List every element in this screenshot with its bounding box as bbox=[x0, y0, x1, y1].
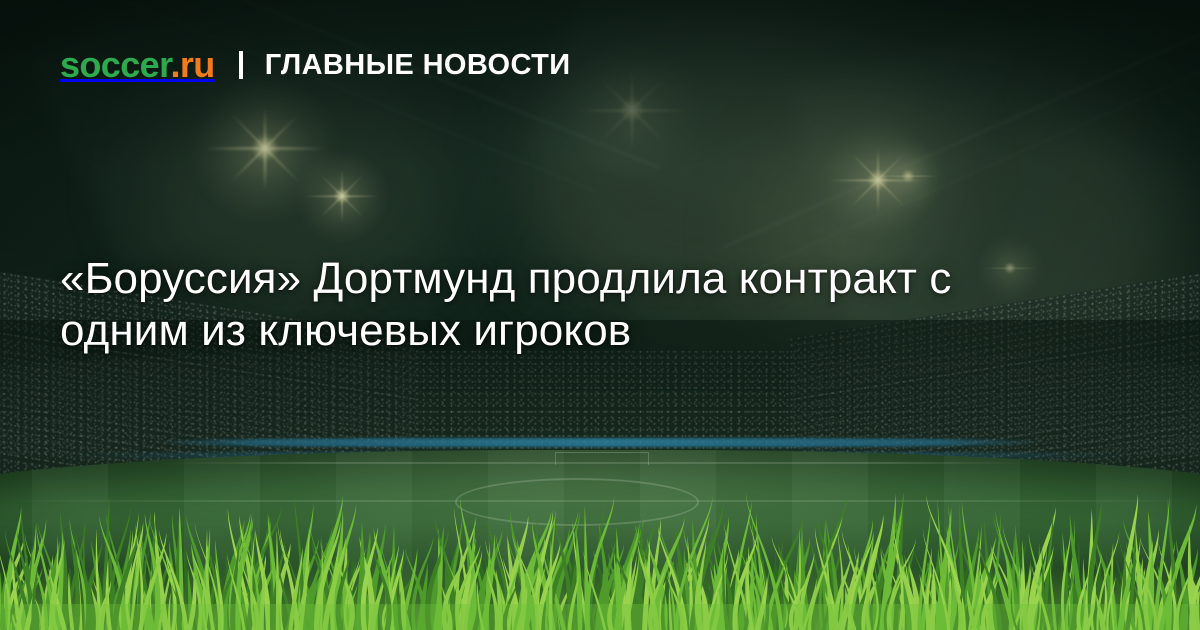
header-kicker: ГЛАВНЫЕ НОВОСТИ bbox=[265, 51, 571, 80]
card-content: soccer.ru ГЛАВНЫЕ НОВОСТИ «Боруссия» Дор… bbox=[0, 0, 1200, 630]
social-share-card: soccer.ru ГЛАВНЫЕ НОВОСТИ «Боруссия» Дор… bbox=[0, 0, 1200, 630]
site-header: soccer.ru ГЛАВНЫЕ НОВОСТИ bbox=[60, 47, 570, 83]
logo-tld-part: .ru bbox=[171, 44, 215, 85]
header-separator bbox=[239, 51, 243, 79]
soccer-ru-logo[interactable]: soccer.ru bbox=[60, 47, 215, 83]
logo-name-part: soccer bbox=[60, 44, 171, 85]
page-title: «Боруссия» Дортмунд продлила контракт с … bbox=[60, 253, 1020, 357]
